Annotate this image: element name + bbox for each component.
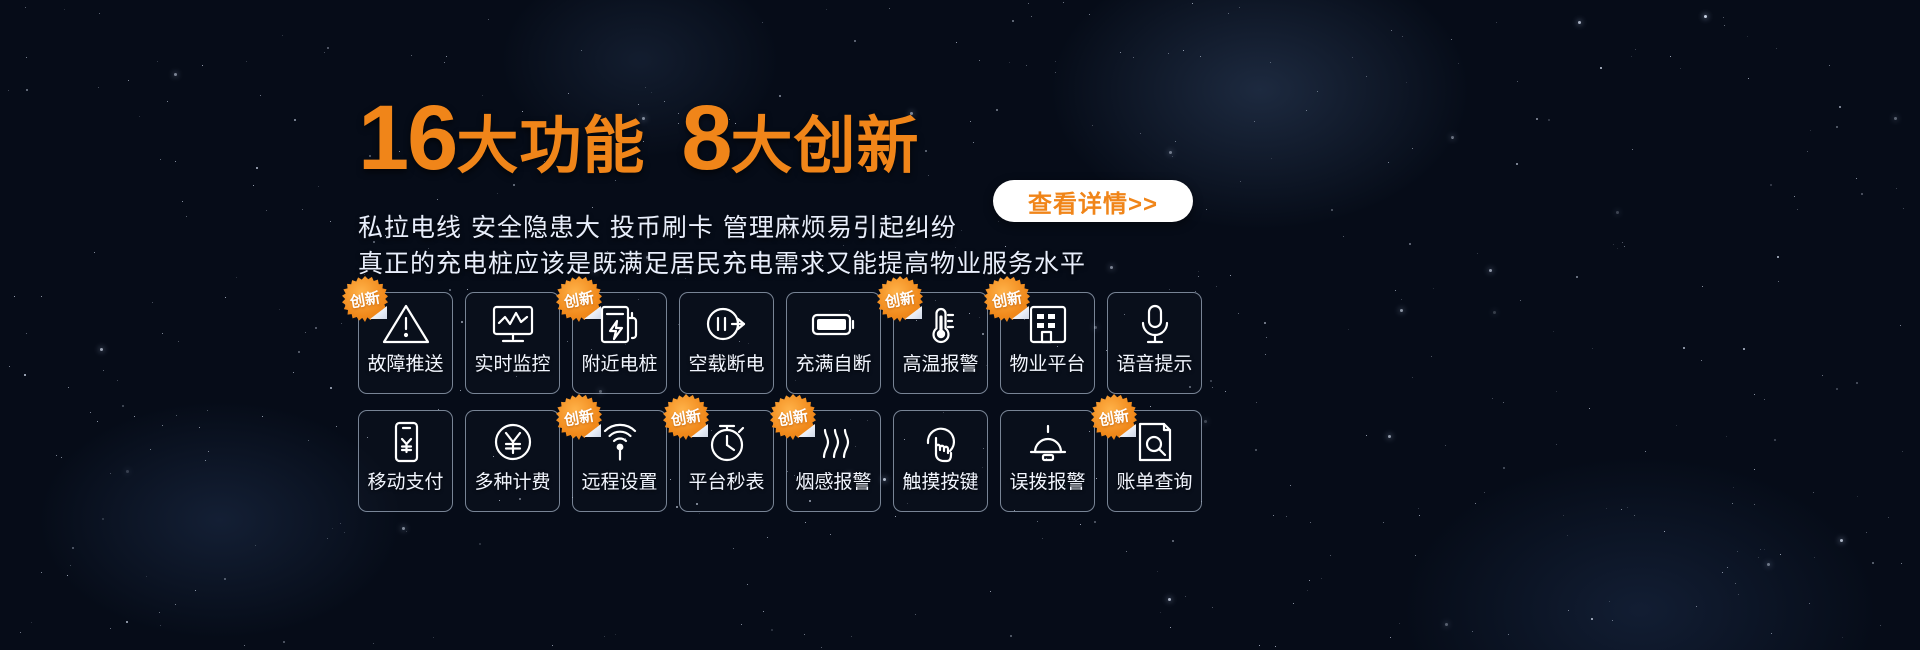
feature-label: 附近电桩: [581, 355, 657, 374]
feature-label: 多种计费: [474, 473, 550, 492]
feature-card-高温报警[interactable]: 创新高温报警: [893, 292, 988, 394]
innovation-badge: 创新: [984, 276, 1030, 322]
feature-label: 平台秒表: [688, 473, 764, 492]
innovation-badge: 创新: [556, 276, 602, 322]
headline-text-one: 大功能: [456, 112, 645, 181]
plug-disconnect-icon: [680, 293, 773, 355]
headline-text-two: 大创新: [731, 112, 920, 181]
badge-label: 创新: [883, 286, 916, 312]
feature-row-2: 移动支付多种计费创新远程设置创新平台秒表创新烟感报警触摸按键误拨报警创新账单查询: [358, 410, 1202, 512]
feature-card-语音提示[interactable]: 语音提示: [1107, 292, 1202, 394]
feature-card-多种计费[interactable]: 多种计费: [465, 410, 560, 512]
badge-label: 创新: [1097, 404, 1130, 430]
badge-label: 创新: [562, 286, 595, 312]
headline-number-one: 16: [358, 87, 456, 189]
feature-card-误拨报警[interactable]: 误拨报警: [1000, 410, 1095, 512]
innovation-badge: 创新: [663, 394, 709, 440]
feature-card-实时监控[interactable]: 实时监控: [465, 292, 560, 394]
badge-label: 创新: [669, 404, 702, 430]
badge-label: 创新: [776, 404, 809, 430]
feature-card-故障推送[interactable]: 创新故障推送: [358, 292, 453, 394]
promo-banner: 16大功能8大创新 私拉电线 安全隐患大 投币刷卡 管理麻烦易引起纠纷 真正的充…: [0, 0, 1920, 650]
feature-grid: 创新故障推送实时监控创新附近电桩空载断电充满自断创新高温报警创新物业平台语音提示…: [358, 292, 1202, 512]
feature-label: 高温报警: [902, 355, 978, 374]
page-title: 16大功能8大创新: [358, 92, 920, 184]
feature-label: 实时监控: [474, 355, 550, 374]
subtitle-line-2: 真正的充电桩应该是既满足居民充电需求又能提高物业服务水平: [358, 244, 1086, 280]
alarm-bell-icon: [1001, 411, 1094, 473]
battery-full-icon: [787, 293, 880, 355]
touch-hand-icon: [894, 411, 987, 473]
feature-label: 充满自断: [795, 355, 871, 374]
feature-card-触摸按键[interactable]: 触摸按键: [893, 410, 988, 512]
feature-label: 触摸按键: [902, 473, 978, 492]
feature-label: 语音提示: [1116, 355, 1192, 374]
yuan-coin-icon: [466, 411, 559, 473]
innovation-badge: 创新: [556, 394, 602, 440]
feature-card-平台秒表[interactable]: 创新平台秒表: [679, 410, 774, 512]
feature-label: 空载断电: [688, 355, 764, 374]
feature-card-移动支付[interactable]: 移动支付: [358, 410, 453, 512]
feature-label: 误拨报警: [1009, 473, 1085, 492]
feature-card-物业平台[interactable]: 创新物业平台: [1000, 292, 1095, 394]
innovation-badge: 创新: [342, 276, 388, 322]
badge-label: 创新: [348, 286, 381, 312]
feature-card-附近电桩[interactable]: 创新附近电桩: [572, 292, 667, 394]
feature-label: 移动支付: [367, 473, 443, 492]
feature-label: 故障推送: [367, 355, 443, 374]
microphone-icon: [1108, 293, 1201, 355]
feature-label: 远程设置: [581, 473, 657, 492]
innovation-badge: 创新: [770, 394, 816, 440]
feature-card-烟感报警[interactable]: 创新烟感报警: [786, 410, 881, 512]
feature-card-远程设置[interactable]: 创新远程设置: [572, 410, 667, 512]
view-details-button[interactable]: 查看详情>>: [993, 180, 1193, 222]
subtitle-line-1: 私拉电线 安全隐患大 投币刷卡 管理麻烦易引起纠纷: [358, 208, 957, 244]
innovation-badge: 创新: [1091, 394, 1137, 440]
feature-label: 物业平台: [1009, 355, 1085, 374]
badge-label: 创新: [990, 286, 1023, 312]
mobile-payment-icon: [359, 411, 452, 473]
feature-row-1: 创新故障推送实时监控创新附近电桩空载断电充满自断创新高温报警创新物业平台语音提示: [358, 292, 1202, 394]
monitor-waveform-icon: [466, 293, 559, 355]
innovation-badge: 创新: [877, 276, 923, 322]
feature-card-空载断电[interactable]: 空载断电: [679, 292, 774, 394]
feature-card-充满自断[interactable]: 充满自断: [786, 292, 881, 394]
feature-label: 账单查询: [1116, 473, 1192, 492]
badge-label: 创新: [562, 404, 595, 430]
headline-number-two: 8: [681, 87, 730, 189]
feature-label: 烟感报警: [795, 473, 871, 492]
feature-card-账单查询[interactable]: 创新账单查询: [1107, 410, 1202, 512]
